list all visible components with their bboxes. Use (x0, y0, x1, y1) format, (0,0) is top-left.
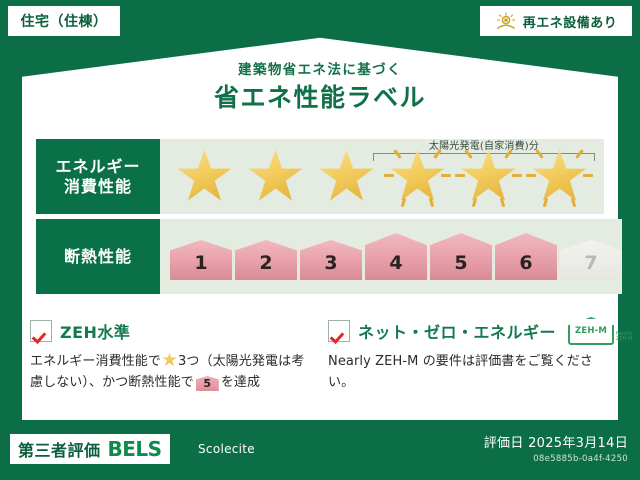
inline-level-badge: 5 (196, 376, 219, 391)
level-value: 3 (324, 254, 337, 280)
net-zero-criteria-text: Nearly ZEH-M の要件は評価書をご覧ください。 (328, 351, 608, 393)
ratings-table: エネルギー 消費性能 太陽光発電(自家消費)分 (36, 139, 604, 294)
evaluation-date: 評価日 2025年3月14日 (484, 432, 628, 451)
star-5-solar (454, 144, 523, 210)
energy-label-line2: 消費性能 (64, 177, 132, 197)
bels-certification-box: 第三者評価 BELS (10, 434, 170, 464)
star-icon (248, 149, 304, 205)
energy-performance-body: 太陽光発電(自家消費)分 (160, 139, 604, 214)
insulation-label-line1: 断熱性能 (64, 247, 132, 267)
net-zero-criteria: ネット・ゼロ・エネルギー ZEH-M Nearly ZEH-M Nearly Z… (328, 318, 608, 393)
energy-performance-label: 住宅（住棟） 再エネ設備あり 建築物省エネ法に基づく 省エネ性能ラベル エネルギ… (0, 0, 640, 480)
evaluation-date-label: 評価日 (484, 436, 524, 451)
level-value: 6 (519, 254, 532, 280)
net-zero-criteria-title: ネット・ゼロ・エネルギー (358, 319, 556, 343)
building-type-label: 住宅（住棟） (21, 11, 108, 31)
star-icon (390, 149, 446, 205)
footer: 第三者評価 BELS Scolecite 評価日 2025年3月14日 08e5… (0, 424, 640, 480)
sun-icon (495, 12, 517, 30)
star-icon (532, 149, 588, 205)
building-type-tag: 住宅（住棟） (8, 6, 120, 36)
insulation-level-6: 6 (495, 233, 557, 280)
third-party-label: 第三者評価 (18, 437, 101, 461)
zeh-m-logo-sub: Nearly ZEH-M (616, 332, 632, 346)
level-value: 4 (389, 254, 402, 280)
evaluator-name: Scolecite (198, 442, 255, 456)
energy-performance-label: エネルギー 消費性能 (36, 139, 160, 214)
renewable-badge-label: 再エネ設備あり (523, 12, 618, 31)
renewable-equipment-badge: 再エネ設備あり (480, 6, 632, 36)
star-icon (177, 149, 233, 205)
star-1 (170, 144, 239, 210)
insulation-performance-label: 断熱性能 (36, 219, 160, 294)
checkmark-icon (30, 320, 52, 342)
star-3 (312, 144, 381, 210)
zeh-text-1: エネルギー消費性能で (30, 354, 161, 369)
insulation-level-3: 3 (300, 240, 362, 280)
inline-star-icon (162, 352, 177, 367)
insulation-level-4: 4 (365, 233, 427, 280)
zeh-criteria: ZEH水準 エネルギー消費性能で3つ（太陽光発電は考慮しない）、かつ断熱性能で5… (30, 318, 310, 393)
insulation-level-1: 1 (170, 240, 232, 280)
insulation-level-5: 5 (430, 233, 492, 280)
star-4-solar (383, 144, 452, 210)
criteria-section: ZEH水準 エネルギー消費性能で3つ（太陽光発電は考慮しない）、かつ断熱性能で5… (30, 318, 608, 393)
star-6-solar (525, 144, 594, 210)
energy-performance-row: エネルギー 消費性能 太陽光発電(自家消費)分 (36, 139, 604, 214)
zeh-criteria-header: ZEH水準 (30, 318, 310, 344)
insulation-level-7: 7 (560, 240, 622, 280)
insulation-performance-body: 1 2 3 4 5 6 7 (160, 219, 622, 294)
footer-right: 評価日 2025年3月14日 08e5885b-0a4f-4250 (484, 432, 628, 464)
insulation-level-2: 2 (235, 240, 297, 280)
certificate-id: 08e5885b-0a4f-4250 (484, 454, 628, 464)
level-value: 2 (259, 254, 272, 280)
energy-label-line1: エネルギー (55, 157, 140, 177)
label-subtitle: 建築物省エネ法に基づく (0, 58, 640, 78)
level-value: 5 (454, 254, 467, 280)
page-title: 省エネ性能ラベル (0, 78, 640, 114)
zeh-m-sub-2: ZEH-M (616, 336, 632, 342)
star-2 (241, 144, 310, 210)
zeh-star-count: 3つ（太陽光発電 (178, 354, 278, 369)
net-zero-criteria-header: ネット・ゼロ・エネルギー ZEH-M Nearly ZEH-M (328, 318, 608, 344)
star-icon (461, 149, 517, 205)
insulation-level-track: 1 2 3 4 5 6 7 (160, 219, 622, 294)
zeh-criteria-title: ZEH水準 (60, 319, 130, 343)
zeh-text-3: を達成 (221, 375, 260, 390)
star-icon (319, 149, 375, 205)
zeh-m-house-icon: ZEH-M (568, 317, 614, 345)
zeh-criteria-text: エネルギー消費性能で3つ（太陽光発電は考慮しない）、かつ断熱性能で5を達成 (30, 351, 310, 393)
level-value: 7 (584, 254, 597, 280)
level-value: 1 (194, 254, 207, 280)
evaluation-date-value: 2025年3月14日 (528, 436, 628, 451)
bels-logo: BELS (108, 437, 162, 461)
checkmark-icon (328, 320, 350, 342)
zeh-m-logo: ZEH-M Nearly ZEH-M (568, 317, 632, 345)
insulation-performance-row: 断熱性能 1 2 3 4 5 6 7 (36, 219, 604, 294)
